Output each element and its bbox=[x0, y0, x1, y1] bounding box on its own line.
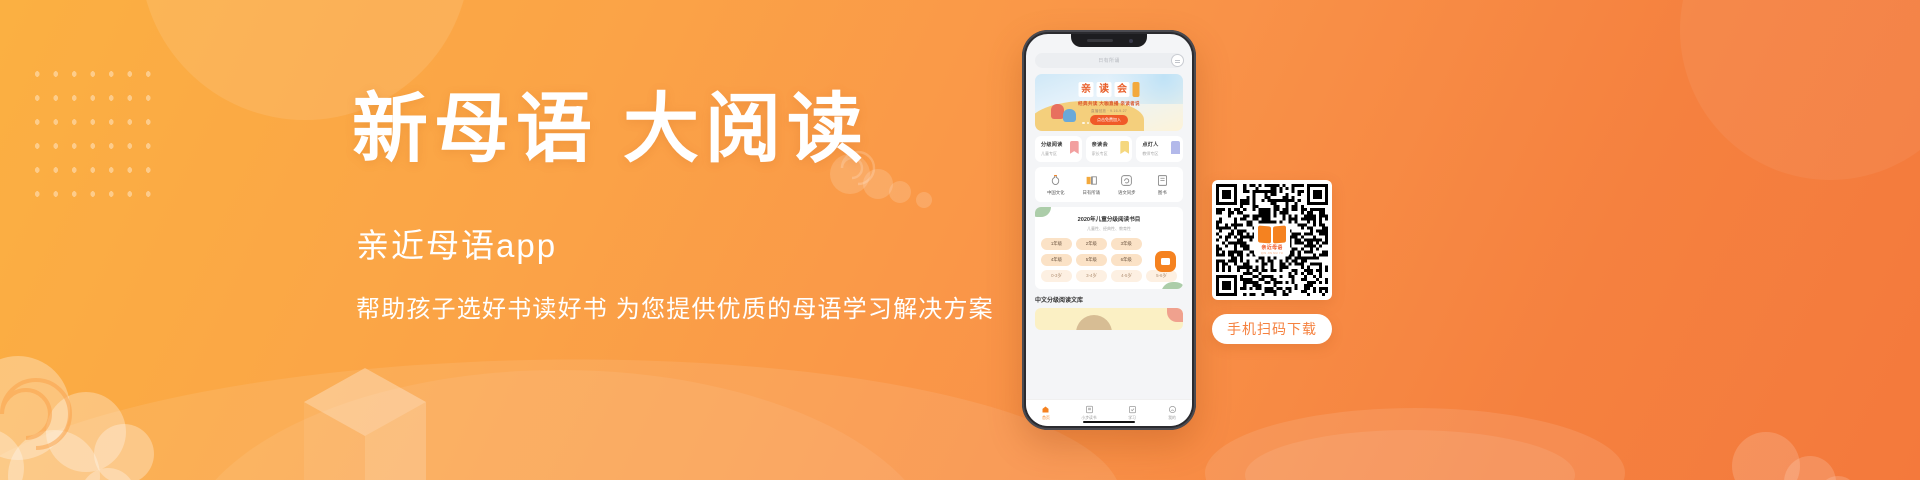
grade-chip-grid: 1年级 2年级 3年级 4年级 5年级 6年级 bbox=[1041, 238, 1142, 266]
banner-copy: 新母语 大阅读 亲近母语app 帮助孩子选好书读好书 为您提供优质的母语学习解决… bbox=[352, 88, 1052, 322]
hero-title-char: 亲 bbox=[1079, 82, 1094, 97]
library-illustration bbox=[1076, 315, 1112, 330]
quick-link-chinese-culture[interactable]: 中国文化 bbox=[1038, 174, 1074, 196]
booklist-title: 2020年儿童分级阅读书目 bbox=[1041, 215, 1177, 223]
vase-icon bbox=[1049, 174, 1062, 187]
category-card-teacher[interactable]: 点灯人 教师专区 bbox=[1136, 136, 1183, 162]
qr-download-block: 亲近母语 QIN JIN MU YU 手机扫码下载 bbox=[1212, 180, 1332, 344]
age-chip-grid: 0-3岁 3-4岁 4-5岁 5-6岁 bbox=[1041, 270, 1177, 282]
hero-subtitle: 经典共读 大咖直播 亲读者说 bbox=[1078, 101, 1140, 107]
age-chip[interactable]: 3-4岁 bbox=[1076, 270, 1107, 282]
nav-label: 首页 bbox=[1042, 416, 1050, 421]
nav-item-reading[interactable]: 小步读书 bbox=[1081, 405, 1096, 421]
list-icon bbox=[1085, 405, 1094, 414]
bookmark-icon bbox=[1171, 141, 1180, 154]
category-card-graded-reading[interactable]: 分级阅读 儿童专区 bbox=[1035, 136, 1082, 162]
app-name-subtitle: 亲近母语app bbox=[356, 229, 1052, 262]
qr-center-logo: 亲近母语 QIN JIN MU YU bbox=[1254, 224, 1290, 256]
library-tab-decoration bbox=[1167, 308, 1183, 322]
cloud-swirl-small-icon bbox=[1726, 404, 1876, 480]
leaf-decoration-right bbox=[1161, 282, 1183, 289]
quick-link-books[interactable]: 图书 bbox=[1145, 174, 1181, 196]
book-logo-icon bbox=[1258, 226, 1286, 243]
hero-schedule: 直播回放 · 9.16-9.27 bbox=[1091, 109, 1127, 114]
hero-title-badge bbox=[1133, 82, 1140, 97]
grade-chip[interactable]: 3年级 bbox=[1111, 238, 1142, 250]
banner-tagline: 帮助孩子选好书读好书 为您提供优质的母语学习解决方案 bbox=[356, 298, 1052, 322]
category-card-row: 分级阅读 儿童专区 亲读会 家长专区 点灯人 教师专区 bbox=[1035, 136, 1183, 162]
grade-chip[interactable]: 5年级 bbox=[1076, 254, 1107, 266]
qr-card: 亲近母语 QIN JIN MU YU bbox=[1212, 180, 1332, 300]
chat-icon[interactable] bbox=[1171, 54, 1184, 67]
quick-link-label: 中国文化 bbox=[1047, 190, 1065, 196]
booklist-card[interactable]: 2020年儿童分级阅读书目 儿童性、经典性、教育性 1年级 2年级 3年级 4年… bbox=[1035, 207, 1183, 289]
hero-title-char: 读 bbox=[1097, 82, 1112, 97]
decorative-circle-top-right bbox=[1680, 0, 1920, 180]
quick-link-label: 日有所诵 bbox=[1082, 190, 1100, 196]
phone-mockup: 日有所诵 亲 读 会 经典共读 大咖直播 亲读者说 直播回放 · 9.16-9.… bbox=[1022, 30, 1196, 430]
quick-link-label: 图书 bbox=[1158, 190, 1167, 196]
play-video-button[interactable] bbox=[1155, 251, 1176, 272]
promo-banner: 新母语 大阅读 亲近母语app 帮助孩子选好书读好书 为您提供优质的母语学习解决… bbox=[0, 0, 1920, 480]
cloud-swirl-icon bbox=[0, 336, 248, 480]
quick-link-daily-recitation[interactable]: 日有所诵 bbox=[1074, 174, 1110, 196]
decorative-dot-grid bbox=[28, 62, 160, 210]
logo-name: 亲近母语 bbox=[1261, 244, 1282, 251]
hero-cta-button[interactable]: 点击免费加入 bbox=[1090, 115, 1128, 125]
hero-banner[interactable]: 亲 读 会 经典共读 大咖直播 亲读者说 直播回放 · 9.16-9.27 点击… bbox=[1035, 74, 1183, 131]
hero-title: 亲 读 会 bbox=[1079, 82, 1140, 97]
clipboard-icon bbox=[1128, 405, 1137, 414]
booklist-subtitle: 儿童性、经典性、教育性 bbox=[1041, 226, 1177, 232]
open-book-icon bbox=[1085, 174, 1098, 187]
decorative-hill-back bbox=[180, 370, 940, 480]
person-icon bbox=[1168, 405, 1177, 414]
nav-item-home[interactable]: 首页 bbox=[1041, 405, 1050, 421]
home-indicator bbox=[1083, 421, 1135, 424]
age-chip[interactable]: 4-5岁 bbox=[1111, 270, 1142, 282]
decorative-ellipse-under-phone bbox=[1205, 408, 1625, 480]
phone-screen: 日有所诵 亲 读 会 经典共读 大咖直播 亲读者说 直播回放 · 9.16-9.… bbox=[1026, 34, 1192, 426]
download-button[interactable]: 手机扫码下载 bbox=[1212, 314, 1332, 344]
search-placeholder: 日有所诵 bbox=[1098, 57, 1120, 64]
quick-link-label: 语文同步 bbox=[1118, 190, 1136, 196]
library-card[interactable] bbox=[1035, 308, 1183, 330]
home-icon bbox=[1041, 405, 1050, 414]
hero-child-right bbox=[1063, 109, 1076, 122]
nav-label: 我的 bbox=[1168, 416, 1176, 421]
category-card-parent-club[interactable]: 亲读会 家长专区 bbox=[1086, 136, 1133, 162]
hero-title-char: 会 bbox=[1115, 82, 1130, 97]
search-input[interactable]: 日有所诵 bbox=[1035, 53, 1183, 68]
nav-item-profile[interactable]: 我的 bbox=[1168, 405, 1177, 421]
decorative-hill-front bbox=[0, 348, 1121, 480]
age-chip[interactable]: 0-3岁 bbox=[1041, 270, 1072, 282]
grade-chip[interactable]: 4年级 bbox=[1041, 254, 1072, 266]
phone-notch bbox=[1071, 34, 1147, 47]
sync-icon bbox=[1120, 174, 1133, 187]
decorative-ellipse-under-phone-inner bbox=[1245, 430, 1575, 480]
quick-links-row: 中国文化 日有所诵 语文同步 bbox=[1035, 167, 1183, 202]
book-icon bbox=[1156, 174, 1169, 187]
library-section-title: 中文分级阅读文库 bbox=[1035, 295, 1183, 304]
logo-pinyin: QIN JIN MU YU bbox=[1261, 252, 1283, 255]
quick-link-textbook-sync[interactable]: 语文同步 bbox=[1109, 174, 1145, 196]
qr-code: 亲近母语 QIN JIN MU YU bbox=[1216, 184, 1328, 296]
grade-chip[interactable]: 6年级 bbox=[1111, 254, 1142, 266]
grade-chip[interactable]: 1年级 bbox=[1041, 238, 1072, 250]
page-title: 新母语 大阅读 bbox=[352, 88, 1052, 173]
isometric-cube-icon bbox=[300, 360, 430, 480]
nav-item-study[interactable]: 学习 bbox=[1128, 405, 1137, 421]
grade-chip[interactable]: 2年级 bbox=[1076, 238, 1107, 250]
